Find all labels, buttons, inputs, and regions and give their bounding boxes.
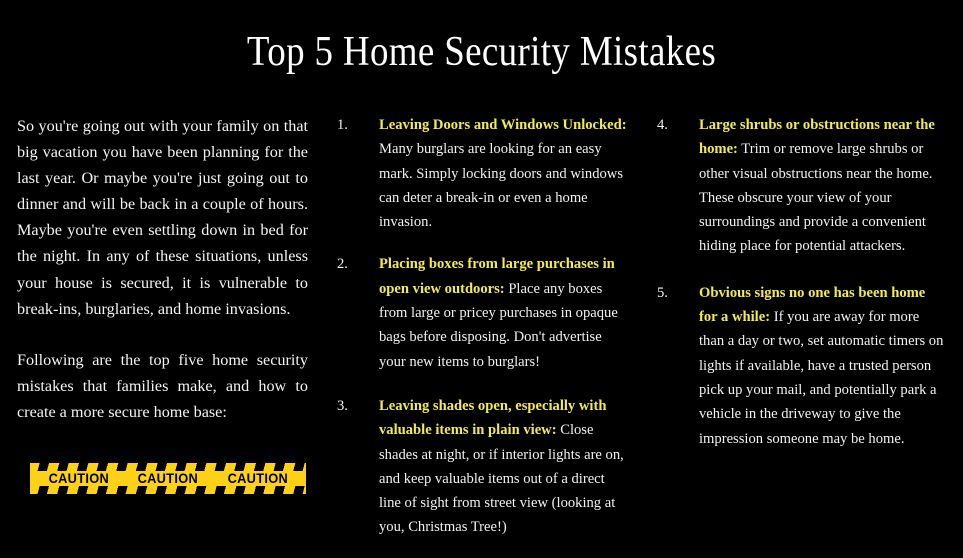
tips-column-middle: 1. Leaving Doors and Windows Un­locked: …	[335, 113, 627, 558]
tip-number: 1.	[337, 113, 348, 137]
tip-item: 4. Large shrubs or obstructions near the…	[655, 113, 947, 259]
tip-item: 1. Leaving Doors and Windows Un­locked: …	[335, 113, 627, 234]
caution-label-2: CAUTION	[138, 471, 198, 486]
caution-tape-graphic: CAUTION CAUTION CAUTION	[30, 463, 306, 494]
tip-heading: Leaving Doors and Windows Un­locked:	[379, 117, 627, 133]
tip-body: If you are away for more than a day or t…	[699, 309, 943, 446]
tip-item: 5. Obvious signs no one has been home fo…	[655, 281, 947, 451]
infographic-page: Top 5 Home Security Mistakes So you're g…	[0, 0, 963, 505]
caution-tape-labels: CAUTION CAUTION CAUTION	[30, 463, 306, 494]
intro-paragraph-1: So you're going out with your family on …	[17, 113, 308, 322]
caution-label-3: CAUTION	[227, 471, 287, 486]
tip-body: Close shades at night, or if interior li…	[379, 422, 624, 535]
tip-body: Many burglars are looking for an easy ma…	[379, 141, 623, 230]
tip-number: 3.	[337, 394, 348, 418]
tip-body: Trim or remove large shrubs or other vis…	[699, 141, 932, 254]
tip-number: 2.	[337, 252, 348, 276]
tips-column-right: 4. Large shrubs or obstructions near the…	[655, 113, 947, 469]
tip-item: 2. Placing boxes from large purchases in…	[335, 252, 627, 373]
intro-paragraph-2: Following are the top five home security…	[17, 347, 308, 425]
tip-item: 3. Leaving shades open, especially with …	[335, 394, 627, 540]
page-title: Top 5 Home Security Mistakes	[58, 27, 905, 77]
intro-column: So you're going out with your family on …	[17, 113, 308, 425]
tip-number: 5.	[657, 281, 668, 305]
caution-label-1: CAUTION	[48, 471, 108, 486]
tip-number: 4.	[657, 113, 668, 137]
